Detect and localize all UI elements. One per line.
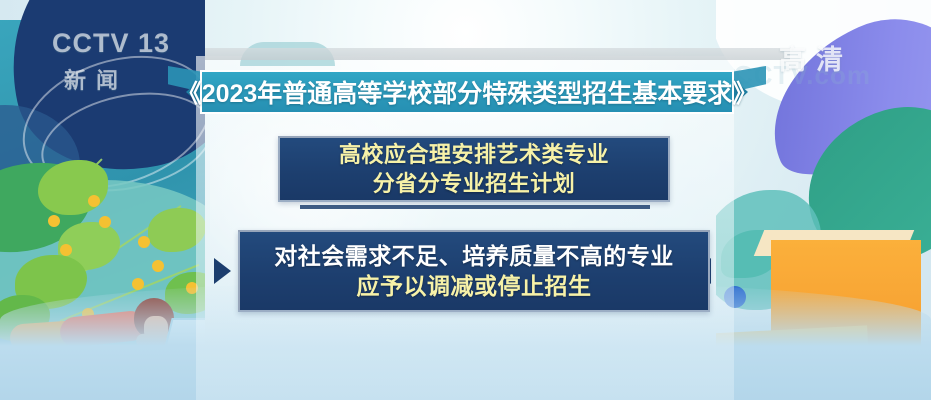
berry-dot xyxy=(138,236,150,248)
statement-underline xyxy=(300,205,650,209)
triangle-right-icon xyxy=(214,258,231,284)
statement-line: 对社会需求不足、培养质量不高的专业 xyxy=(274,241,674,271)
title-band: 《2023年普通高等学校部分特殊类型招生基本要求》 xyxy=(200,70,734,114)
page-title: 《2023年普通高等学校部分特殊类型招生基本要求》 xyxy=(177,74,758,110)
decorative-top-bar xyxy=(205,48,790,60)
statement-box-2: 对社会需求不足、培养质量不高的专业 应予以调减或停止招生 xyxy=(238,230,710,312)
broadcast-graphic: CCTV 13 新闻 CCTV.com 高清 《2023年普通高等学校部分特殊类… xyxy=(0,0,931,400)
statement-box-1: 高校应合理安排艺术类专业 分省分专业招生计划 xyxy=(278,136,670,202)
cctv-logo-subtitle: 新闻 xyxy=(52,63,172,95)
berry-dot xyxy=(88,195,100,207)
berry-dot xyxy=(99,216,111,228)
title-banner: 《2023年普通高等学校部分特殊类型招生基本要求》 xyxy=(186,70,748,114)
statement-line: 应予以调减或停止招生 xyxy=(357,271,592,301)
cctv-logo: CCTV 13 新闻 xyxy=(52,30,172,92)
berry-dot xyxy=(132,278,144,290)
cctv-logo-text: CCTV 13 xyxy=(52,30,172,57)
berry-dot xyxy=(48,215,60,227)
berry-dot xyxy=(152,260,164,272)
berry-dot xyxy=(60,244,72,256)
hd-badge: 高清 xyxy=(779,38,853,77)
statement-line: 分省分专业招生计划 xyxy=(373,169,576,198)
statement-line: 高校应合理安排艺术类专业 xyxy=(339,140,609,169)
